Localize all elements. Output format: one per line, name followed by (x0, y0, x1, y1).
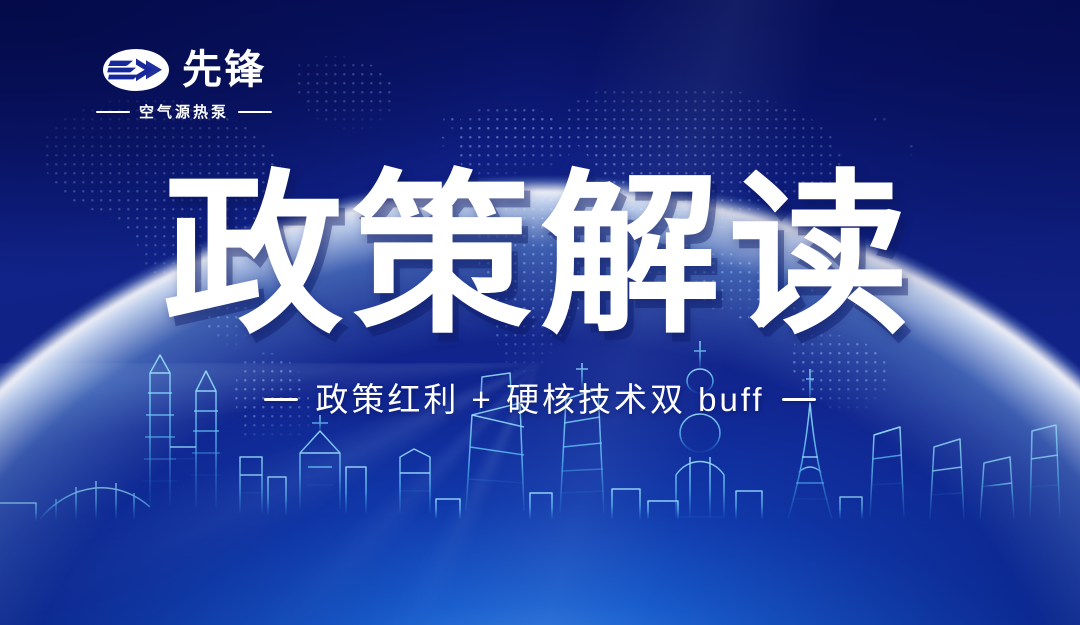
brand-tagline-row: 空气源热泵 (96, 101, 272, 122)
headline-block: 政策解读 (0, 168, 1080, 347)
subtitle-rule-left (264, 398, 298, 401)
brand-logo[interactable]: 先锋 空气源热泵 (96, 48, 272, 122)
tagline-rule-left (96, 111, 130, 113)
subtitle-rule-right (782, 398, 816, 401)
brand-tagline: 空气源热泵 (139, 101, 229, 122)
subtitle-text: 政策红利 + 硬核技术双 buff (315, 383, 764, 416)
brand-name: 先锋 (182, 50, 266, 90)
page-title: 政策解读 (163, 168, 917, 347)
tagline-rule-right (238, 111, 272, 113)
subtitle-block: 政策红利 + 硬核技术双 buff (0, 383, 1080, 416)
pioneer-oval-chevron-logo-icon (102, 48, 170, 92)
policy-banner: 先锋 空气源热泵 政策解读 政策红利 + 硬核技术双 buff (0, 0, 1080, 625)
brand-logo-row: 先锋 (102, 48, 266, 92)
